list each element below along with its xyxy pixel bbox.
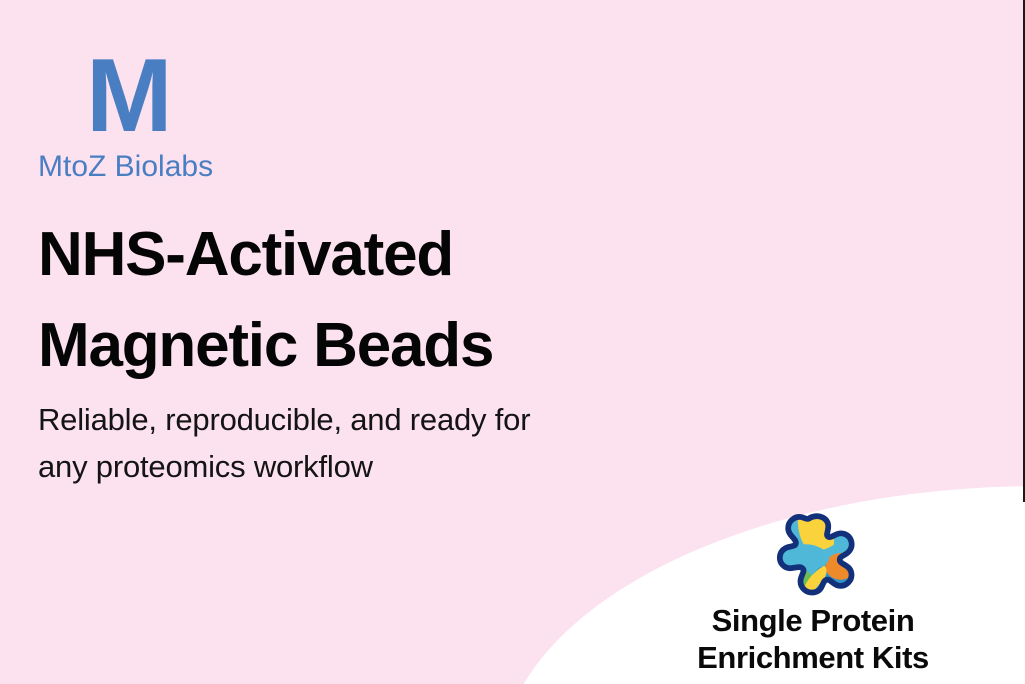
product-badge: Single Protein Enrichment Kits	[608, 512, 1018, 676]
page-subtitle-line-2: any proteomics workflow	[38, 443, 658, 490]
page-title-line-2: Magnetic Beads	[38, 300, 678, 391]
product-badge-title-line-2: Enrichment Kits	[608, 639, 1018, 676]
product-badge-title: Single Protein Enrichment Kits	[608, 602, 1018, 676]
poster-canvas: M MtoZ Biolabs NHS-Activated Magnetic Be…	[0, 0, 1025, 684]
brand-lockup: M MtoZ Biolabs	[38, 48, 213, 184]
protein-blob-icon	[765, 512, 861, 596]
page-subtitle-line-1: Reliable, reproducible, and ready for	[38, 396, 658, 443]
product-badge-title-line-1: Single Protein	[608, 602, 1018, 639]
page-title-line-1: NHS-Activated	[38, 209, 678, 300]
page-subtitle: Reliable, reproducible, and ready for an…	[38, 396, 658, 490]
letter-m-monogram-icon: M	[86, 48, 213, 144]
brand-name: MtoZ Biolabs	[38, 150, 213, 184]
page-title: NHS-Activated Magnetic Beads	[38, 209, 678, 391]
